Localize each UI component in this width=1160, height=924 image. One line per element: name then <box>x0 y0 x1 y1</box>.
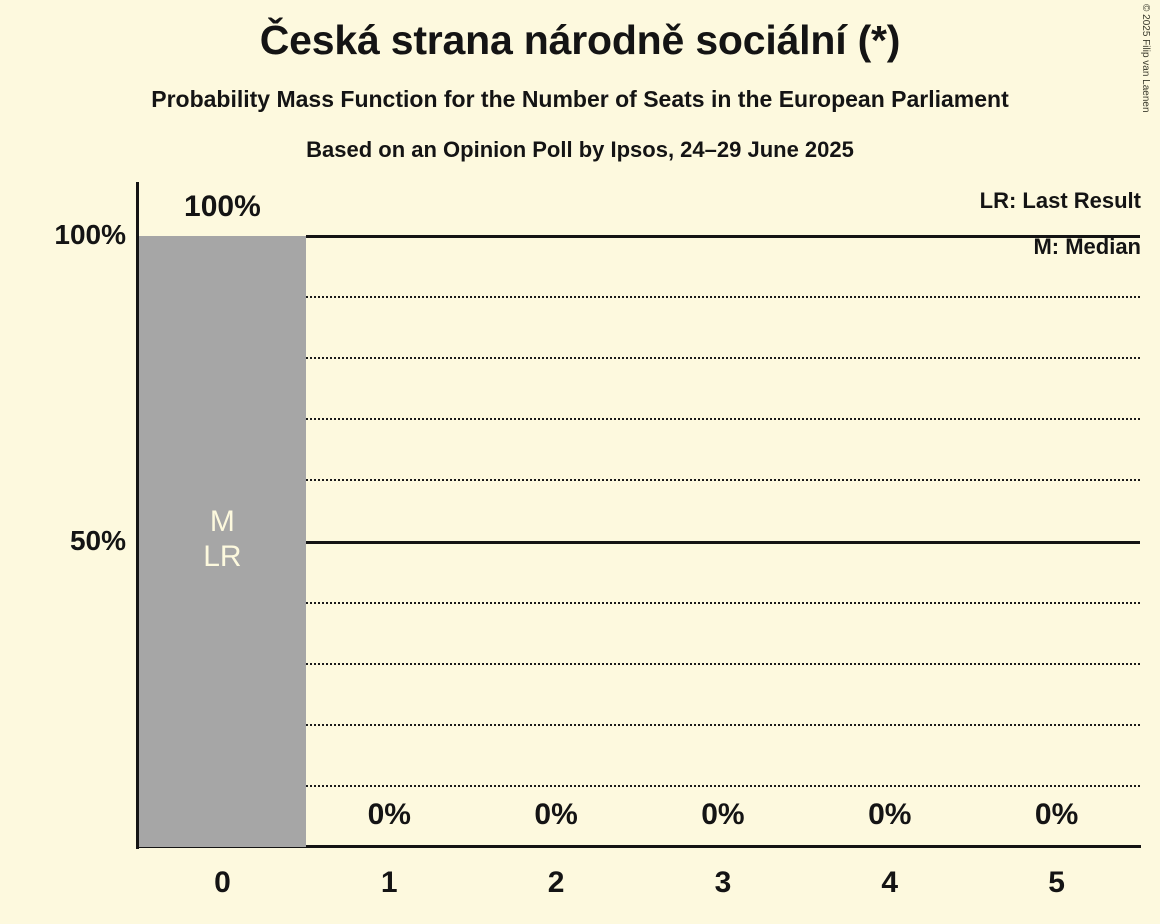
bar-value-label-5: 0% <box>973 800 1140 830</box>
bar-markers-0: MLR <box>139 504 306 575</box>
gridline-10 <box>306 785 1140 787</box>
x-tick-label-0: 0 <box>162 868 282 898</box>
page-subtitle: Probability Mass Function for the Number… <box>0 88 1160 111</box>
bar-value-label-1: 0% <box>306 800 473 830</box>
gridline-80 <box>306 357 1140 359</box>
gridline-100 <box>306 235 1140 238</box>
gridline-90 <box>306 296 1140 298</box>
x-tick-label-4: 4 <box>830 868 950 898</box>
page-source-line: Based on an Opinion Poll by Ipsos, 24–29… <box>0 139 1160 161</box>
bar-value-label-4: 0% <box>806 800 973 830</box>
page-title: Česká strana národně sociální (*) <box>0 20 1160 61</box>
gridline-50 <box>306 541 1140 544</box>
legend-last-result: LR: Last Result <box>980 190 1141 212</box>
bar-marker: LR <box>139 539 306 574</box>
gridline-40 <box>306 602 1140 604</box>
gridline-30 <box>306 663 1140 665</box>
bar-value-label-2: 0% <box>473 800 640 830</box>
x-tick-label-3: 3 <box>663 868 783 898</box>
y-tick-label-100: 100% <box>6 221 126 249</box>
bar-marker: M <box>139 504 306 539</box>
bar-value-label-3: 0% <box>640 800 807 830</box>
gridline-70 <box>306 418 1140 420</box>
copyright-text: © 2025 Filip van Laenen <box>1140 4 1151 113</box>
x-tick-label-1: 1 <box>329 868 449 898</box>
x-tick-label-5: 5 <box>997 868 1117 898</box>
x-tick-label-2: 2 <box>496 868 616 898</box>
legend-median: M: Median <box>1033 236 1141 258</box>
bar-value-label-0: 100% <box>139 192 306 222</box>
gridline-20 <box>306 724 1140 726</box>
chart-page: Česká strana národně sociální (*) Probab… <box>0 0 1160 924</box>
gridline-60 <box>306 479 1140 481</box>
y-tick-label-50: 50% <box>6 527 126 555</box>
copyright-notice: © 2025 Filip van Laenen <box>1141 4 1159 144</box>
